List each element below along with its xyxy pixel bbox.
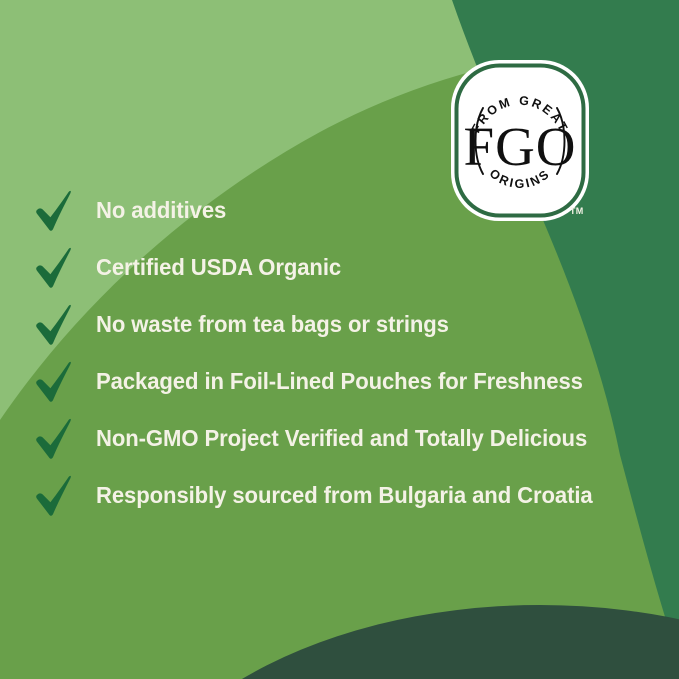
checkmark-icon [34, 361, 74, 403]
list-item: Responsibly sourced from Bulgaria and Cr… [0, 467, 679, 524]
list-item: Packaged in Foil-Lined Pouches for Fresh… [0, 353, 679, 410]
benefit-label: No additives [96, 199, 226, 223]
checkmark-icon [34, 475, 74, 517]
list-item: Non-GMO Project Verified and Totally Del… [0, 410, 679, 467]
checkmark-icon [34, 418, 74, 460]
benefit-label: Certified USDA Organic [96, 256, 341, 280]
benefit-label: Packaged in Foil-Lined Pouches for Fresh… [96, 370, 583, 394]
fgo-seal-badge: FROM GREAT FGO ORIGINS [449, 58, 591, 223]
badge-monogram: FGO [463, 116, 576, 177]
trademark-symbol: TM [570, 206, 584, 216]
checkmark-icon [34, 190, 74, 232]
benefit-label: No waste from tea bags or strings [96, 313, 449, 337]
product-benefits-graphic: FROM GREAT FGO ORIGINS TM No additives C… [0, 0, 679, 679]
checkmark-icon [34, 247, 74, 289]
benefit-label: Responsibly sourced from Bulgaria and Cr… [96, 484, 593, 508]
benefits-list: No additives Certified USDA Organic No w… [0, 182, 679, 524]
list-item: No waste from tea bags or strings [0, 296, 679, 353]
list-item: Certified USDA Organic [0, 239, 679, 296]
checkmark-icon [34, 304, 74, 346]
benefit-label: Non-GMO Project Verified and Totally Del… [96, 427, 587, 451]
